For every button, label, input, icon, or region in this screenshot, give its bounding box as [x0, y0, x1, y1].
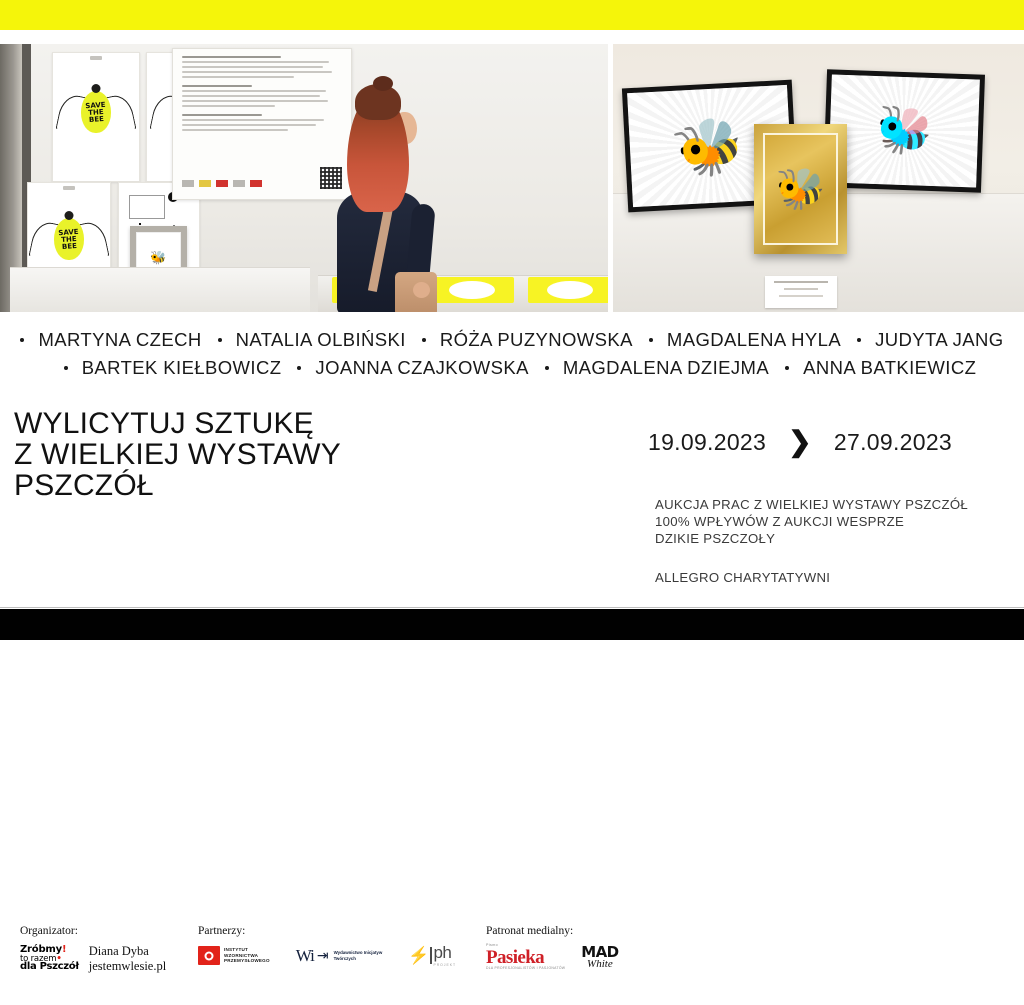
poster-sponsor-logos — [182, 180, 262, 187]
credits-bar: Organizator: Zróbmy! to razem• dla Pszcz… — [0, 925, 1024, 1005]
hero-photo-strip: SAVETHEBEE SAVETHEBEE SAVETHEBEE — [0, 44, 1024, 312]
ph-sub: PROJEKT — [433, 963, 456, 967]
lightning-bolt-icon: ⚡ — [408, 947, 429, 964]
main-content: WYLICYTUJ SZTUKĘ Z WIELKIEJ WYSTAWY PSZC… — [0, 396, 1024, 609]
yellow-card-3 — [528, 277, 608, 303]
framed-blue-bee-art: 🐝 — [823, 69, 985, 192]
artist-item: JOANNA CZAJKOWSKA — [281, 357, 528, 379]
artist-item: MARTYNA CZECH — [20, 329, 201, 351]
auction-description: AUKCJA PRAC Z WIELKIEJ WYSTAWY PSZCZÓŁ 1… — [655, 496, 1024, 586]
artist-item: JUDYTA JANG — [841, 329, 1003, 351]
zrobmy-line-3: dla Pszczół — [20, 963, 79, 972]
bullet-icon — [857, 338, 861, 342]
poster-clip-icon — [90, 56, 102, 60]
partners-group: Partnerzy: INSTYTUT WZORNICTWA PRZEMYSŁO… — [198, 925, 456, 967]
pasieka-sub: DLA PROFESJONALISTÓW I PASJONATÓW — [486, 967, 565, 970]
bee-drawing-icon: SAVETHEBEE — [81, 91, 111, 133]
pasieka-word: Pasieka — [486, 948, 565, 967]
headline-line-2: Z WIELKIEJ WYSTAWY — [14, 439, 474, 470]
chevron-right-icon: ❯ — [788, 428, 812, 456]
artist-name: RÓŻA PUZYNOWSKA — [440, 329, 633, 351]
artist-name: NATALIA OLBIŃSKI — [236, 329, 406, 351]
date-end: 27.09.2023 — [834, 429, 952, 456]
wit-line-2: Twórczych — [334, 956, 383, 961]
exhibition-photo-left: SAVETHEBEE SAVETHEBEE SAVETHEBEE — [0, 44, 608, 312]
headline-line-1: WYLICYTUJ SZTUKĘ — [14, 408, 474, 439]
artwork-label-card — [765, 276, 837, 308]
page-title: WYLICYTUJ SZTUKĘ Z WIELKIEJ WYSTAWY PSZC… — [14, 408, 474, 501]
wit-line-1: Wydawnictwo Inicjatyw — [334, 950, 383, 955]
organizer-person: Diana Dyba jestemwlesie.pl — [89, 944, 166, 974]
artist-item: MAGDALENA HYLA — [633, 329, 841, 351]
artist-name: BARTEK KIEŁBOWICZ — [82, 357, 282, 379]
madwhite-line-1: MAD — [581, 945, 618, 960]
bullet-icon — [649, 338, 653, 342]
mad-white-logo: MAD White — [581, 945, 618, 970]
ph-logo: ⚡ ph PROJEKT — [408, 944, 456, 967]
top-accent-bar — [0, 0, 1024, 30]
bullet-icon — [297, 366, 301, 370]
iwp-mark-icon — [198, 946, 220, 965]
artist-name: MARTYNA CZECH — [38, 329, 201, 351]
artist-name: JOANNA CZAJKOWSKA — [315, 357, 528, 379]
arrow-icon: ⇥ — [317, 947, 329, 964]
bee-drawing-icon: SAVETHEBEE — [54, 218, 84, 260]
artist-name: MAGDALENA DZIEJMA — [563, 357, 769, 379]
artist-name: JUDYTA JANG — [875, 329, 1003, 351]
ph-mark: ph — [433, 943, 451, 962]
zrobmy-line-2: to razem — [20, 954, 56, 964]
artist-item: NATALIA OLBIŃSKI — [202, 329, 406, 351]
gold-framed-bee-painting: 🐝 — [754, 124, 847, 254]
artist-list: MARTYNA CZECH NATALIA OLBIŃSKI RÓŻA PUZY… — [0, 326, 1024, 382]
artist-item: MAGDALENA DZIEJMA — [529, 357, 769, 379]
artist-item: BARTEK KIEŁBOWICZ — [48, 357, 282, 379]
bullet-icon — [785, 366, 789, 370]
artist-row-1: MARTYNA CZECH NATALIA OLBIŃSKI RÓŻA PUZY… — [0, 326, 1024, 354]
bee-poster-1: SAVETHEBEE — [52, 52, 140, 182]
media-patrons-group: Patronat medialny: Pismo Pasieka DLA PRO… — [486, 925, 618, 970]
blurb-line-3: DZIKIE PSZCZOŁY — [655, 530, 1024, 547]
exhibition-photo-right: 🐝 🐝 🐝 — [613, 44, 1024, 312]
bullet-icon — [218, 338, 222, 342]
blurb-line-1: AUKCJA PRAC Z WIELKIEJ WYSTAWY PSZCZÓŁ — [655, 496, 1024, 513]
artist-name: ANNA BATKIEWICZ — [803, 357, 976, 379]
headline-line-3: PSZCZÓŁ — [14, 470, 474, 501]
organizer-label: Organizator: — [20, 925, 166, 937]
bullet-icon — [545, 366, 549, 370]
wit-mark-icon: Wi — [296, 946, 314, 966]
bullet-icon — [20, 338, 24, 342]
bullet-icon — [64, 366, 68, 370]
zrobmy-razem-logo: Zróbmy! to razem• dla Pszczół — [20, 946, 79, 972]
allegro-charity-label: ALLEGRO CHARYTATYWNI — [655, 569, 1024, 586]
divider — [430, 947, 432, 964]
date-start: 19.09.2023 — [648, 429, 766, 456]
artist-item: RÓŻA PUZYNOWSKA — [406, 329, 633, 351]
partners-label: Partnerzy: — [198, 925, 456, 937]
footer-divider — [0, 607, 1024, 608]
organizer-person-name: Diana Dyba — [89, 944, 166, 959]
madwhite-line-2: White — [581, 959, 618, 970]
media-patron-label: Patronat medialny: — [486, 925, 618, 937]
wydawnictwo-inicjatyw-logo: Wi ⇥ Wydawnictwo Inicjatyw Twórczych — [296, 946, 383, 966]
pasieka-logo: Pismo Pasieka DLA PROFESJONALISTÓW I PAS… — [486, 944, 565, 970]
blurb-line-2: 100% WPŁYWÓW Z AUKCJI WESPRZE — [655, 513, 1024, 530]
organizer-person-site: jestemwlesie.pl — [89, 959, 166, 974]
instytut-wzornictwa-logo: INSTYTUT WZORNICTWA PRZEMYSŁOWEGO — [198, 946, 270, 965]
poster-clip-icon — [63, 186, 75, 190]
artist-row-2: BARTEK KIEŁBOWICZ JOANNA CZAJKOWSKA MAGD… — [0, 354, 1024, 382]
bullet-icon — [422, 338, 426, 342]
gallery-visitor — [325, 76, 443, 312]
organizer-group: Organizator: Zróbmy! to razem• dla Pszcz… — [20, 925, 166, 974]
display-table-left — [10, 267, 310, 312]
date-range: 19.09.2023 ❯ 27.09.2023 — [648, 428, 1008, 456]
artist-item: ANNA BATKIEWICZ — [769, 357, 976, 379]
bottom-bar — [0, 609, 1024, 640]
iwp-line-3: PRZEMYSŁOWEGO — [224, 958, 270, 964]
artist-name: MAGDALENA HYLA — [667, 329, 841, 351]
